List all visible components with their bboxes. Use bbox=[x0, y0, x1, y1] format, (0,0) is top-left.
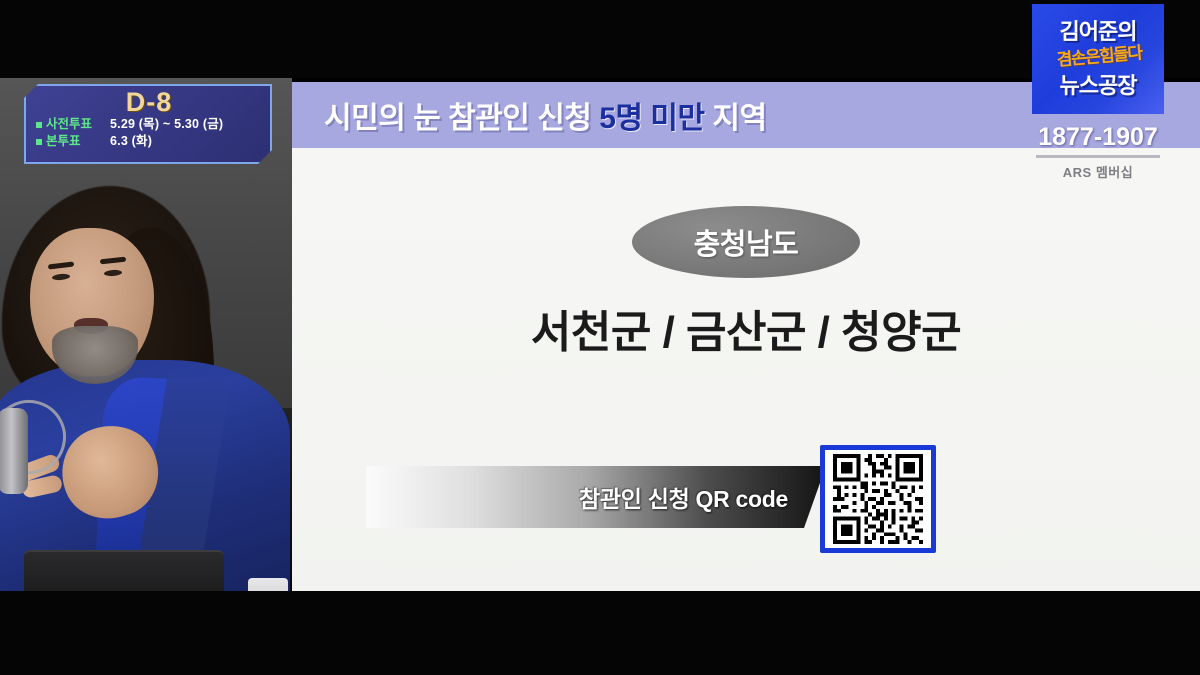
title-highlight: 5명 미만 bbox=[599, 102, 704, 135]
logo-line-3: 뉴스공장 bbox=[1032, 68, 1164, 100]
dday-value-main-voting: 6.3 (화) bbox=[110, 134, 152, 150]
bullet-square-icon bbox=[36, 122, 42, 128]
dday-label-main-voting: 본투표 bbox=[46, 134, 106, 150]
qr-code[interactable] bbox=[820, 445, 936, 553]
dday-row-main-voting: 본투표 6.3 (화) bbox=[36, 134, 262, 150]
qr-banner-label: 참관인 신청 QR code bbox=[579, 480, 788, 514]
district-list: 서천군 / 금산군 / 청양군 bbox=[292, 296, 1200, 360]
laptop bbox=[24, 550, 224, 591]
divider bbox=[1036, 155, 1160, 158]
dday-value-early-voting: 5.29 (목) ~ 5.30 (금) bbox=[110, 117, 223, 133]
dday-label-early-voting: 사전투표 bbox=[46, 117, 106, 133]
region-badge-label: 충청남도 bbox=[694, 221, 799, 263]
qr-code-image[interactable] bbox=[825, 450, 931, 548]
program-logo-block: 김어준의 뉴스공장 겸손은힘들다 1877-1907 ARS 멤버십 bbox=[1020, 0, 1176, 188]
microphone-icon bbox=[0, 408, 28, 494]
ars-phone-number: 1877-1907 bbox=[1020, 120, 1176, 154]
broadcast-screen: 공 장 장 D-8 사전투표 5.29 (목) ~ 5.30 (금) 본투표 6… bbox=[0, 0, 1200, 675]
page-title: 시민의 눈 참관인 신청 5명 미만 지역 bbox=[324, 93, 767, 137]
cup bbox=[248, 578, 288, 591]
title-suffix: 지역 bbox=[705, 102, 767, 135]
slide-body: 충청남도 서천군 / 금산군 / 청양군 참관인 신청 QR code bbox=[292, 148, 1200, 591]
dday-info-box: D-8 사전투표 5.29 (목) ~ 5.30 (금) 본투표 6.3 (화) bbox=[24, 84, 272, 164]
title-prefix: 시민의 눈 참관인 신청 bbox=[324, 102, 599, 135]
dday-row-early-voting: 사전투표 5.29 (목) ~ 5.30 (금) bbox=[36, 117, 262, 133]
dday-title: D-8 bbox=[36, 88, 262, 116]
bullet-square-icon bbox=[36, 139, 42, 145]
letterbox-bottom bbox=[0, 591, 1200, 675]
ars-membership-label: ARS 멤버십 bbox=[1020, 162, 1176, 181]
region-badge: 충청남도 bbox=[632, 206, 860, 278]
qr-code-banner: 참관인 신청 QR code bbox=[366, 466, 826, 528]
